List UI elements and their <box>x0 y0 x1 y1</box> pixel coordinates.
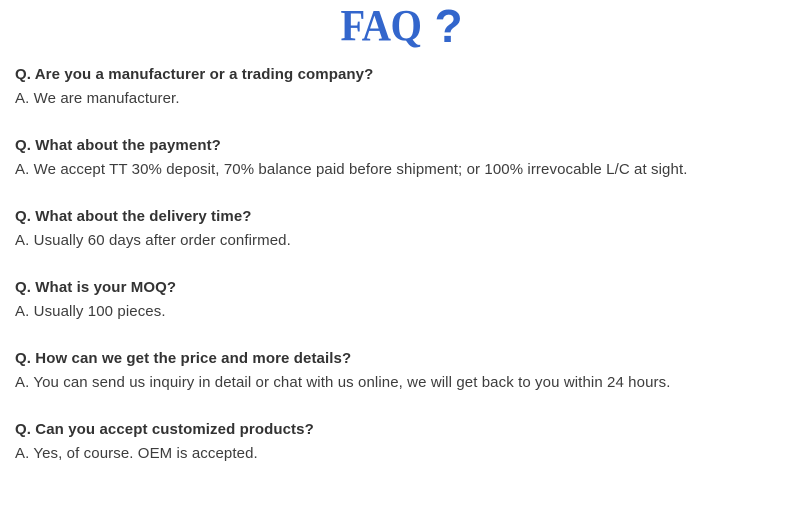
faq-question: Q. What about the delivery time? <box>15 205 785 229</box>
question-mark-icon: ? <box>435 4 463 48</box>
faq-item: Q. What about the payment? A. We accept … <box>15 134 785 182</box>
faq-question: Q. What is your MOQ? <box>15 276 785 300</box>
faq-item: Q. Can you accept customized products? A… <box>15 418 785 466</box>
faq-item: Q. What about the delivery time? A. Usua… <box>15 205 785 253</box>
page-title-text: FAQ <box>341 4 422 48</box>
faq-question: Q. Can you accept customized products? <box>15 418 785 442</box>
faq-item: Q. What is your MOQ? A. Usually 100 piec… <box>15 276 785 324</box>
faq-question: Q. Are you a manufacturer or a trading c… <box>15 63 785 87</box>
faq-answer: A. Usually 100 pieces. <box>15 300 785 324</box>
faq-question: Q. How can we get the price and more det… <box>15 347 785 371</box>
faq-item: Q. How can we get the price and more det… <box>15 347 785 395</box>
page-title: FAQ? <box>0 0 800 52</box>
faq-item: Q. Are you a manufacturer or a trading c… <box>15 63 785 111</box>
faq-answer: A. We are manufacturer. <box>15 87 785 111</box>
faq-page: FAQ? Q. Are you a manufacturer or a trad… <box>0 0 800 525</box>
faq-answer: A. Yes, of course. OEM is accepted. <box>15 442 785 466</box>
faq-answer: A. Usually 60 days after order confirmed… <box>15 229 785 253</box>
faq-answer: A. We accept TT 30% deposit, 70% balance… <box>15 158 785 182</box>
faq-question: Q. What about the payment? <box>15 134 785 158</box>
faq-list: Q. Are you a manufacturer or a trading c… <box>0 63 800 466</box>
faq-answer: A. You can send us inquiry in detail or … <box>15 371 785 395</box>
